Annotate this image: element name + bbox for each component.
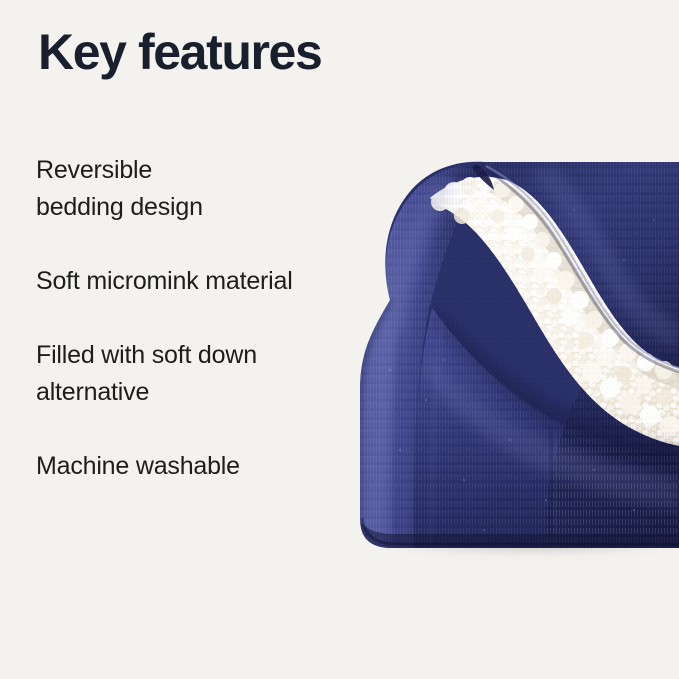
- feature-item-3: Filled with soft down alternative: [36, 337, 366, 411]
- feature-image-canvas: Key features Reversible bedding design S…: [0, 0, 679, 679]
- feature-list: Reversible bedding design Soft micromink…: [36, 152, 366, 485]
- blanket-illustration: [334, 150, 679, 550]
- page-title: Key features: [38, 24, 321, 80]
- feature-item-1: Reversible bedding design: [36, 152, 366, 226]
- product-image-blanket: [334, 150, 679, 550]
- feature-item-2: Soft micromink material: [36, 263, 366, 300]
- feature-item-4: Machine washable: [36, 448, 366, 485]
